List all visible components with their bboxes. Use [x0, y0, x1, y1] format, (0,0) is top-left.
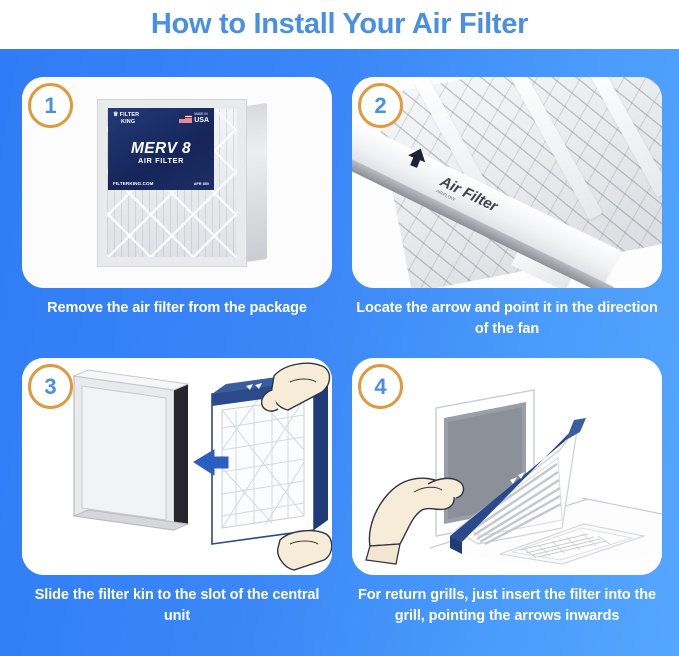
brand-logo: ♕FILTER KING: [113, 112, 139, 125]
step-caption-2: Locate the arrow and point it in the dir…: [352, 288, 662, 340]
brand-line-2: KING: [121, 119, 135, 125]
step-card-2: Air Filter AIRFLOW 2 Locate the arrow an…: [352, 77, 662, 340]
step-number-badge-1: 1: [28, 83, 73, 128]
air-filter-product: ♕FILTER KING MADE IN USA: [97, 99, 267, 267]
product-type-text: AIR FILTER: [113, 156, 209, 165]
step-caption-3: Slide the filter kin to the slot of the …: [22, 575, 332, 627]
us-flag-icon: [179, 115, 192, 123]
step-card-4: 4 For return grills, just insert the fil…: [352, 358, 662, 627]
filter-front-face: ♕FILTER KING MADE IN USA: [97, 99, 247, 267]
central-unit-slot: [74, 370, 188, 530]
step-caption-1: Remove the air filter from the package: [22, 288, 332, 319]
brand-line-1: FILTER: [120, 112, 140, 118]
filter-frame-bottom: [98, 257, 246, 266]
step-1-image-card: ♕FILTER KING MADE IN USA: [22, 77, 332, 288]
step-number-2: 2: [374, 95, 386, 117]
made-in-usa-mark: MADE IN USA: [179, 113, 209, 123]
apr-rating-text: APR 850: [194, 182, 209, 186]
label-top-row: ♕FILTER KING MADE IN USA: [113, 112, 209, 125]
label-bottom-row: FILTERKING.COM APR 850: [113, 181, 209, 186]
crown-icon: ♕: [113, 112, 119, 119]
page-title: How to Install Your Air Filter: [151, 8, 528, 41]
step-card-1: ♕FILTER KING MADE IN USA: [22, 77, 332, 319]
step-number-1: 1: [44, 95, 56, 117]
step-3-image-card: 3: [22, 358, 332, 575]
step-number-badge-4: 4: [358, 364, 403, 409]
website-text: FILTERKING.COM: [113, 181, 154, 186]
product-label: ♕FILTER KING MADE IN USA: [108, 108, 214, 190]
country-text: USA: [194, 117, 209, 124]
header-band: How to Install Your Air Filter: [0, 0, 679, 49]
steps-grid: ♕FILTER KING MADE IN USA: [0, 49, 679, 656]
step-caption-4: For return grills, just insert the filte…: [352, 575, 662, 627]
step-card-3: 3 Slide the filter kin to the slot of th…: [22, 358, 332, 627]
step-number-3: 3: [44, 376, 56, 398]
step-number-4: 4: [374, 376, 386, 398]
step-2-image-card: Air Filter AIRFLOW 2: [352, 77, 662, 288]
filter-frame-left: [98, 100, 107, 266]
step-4-image-card: 4: [352, 358, 662, 575]
step-number-badge-3: 3: [28, 364, 73, 409]
step-number-badge-2: 2: [358, 83, 403, 128]
instruction-board: ♕FILTER KING MADE IN USA: [0, 49, 679, 656]
label-center: MERV 8 AIR FILTER: [113, 142, 209, 165]
filter-frame-right: [237, 100, 246, 266]
